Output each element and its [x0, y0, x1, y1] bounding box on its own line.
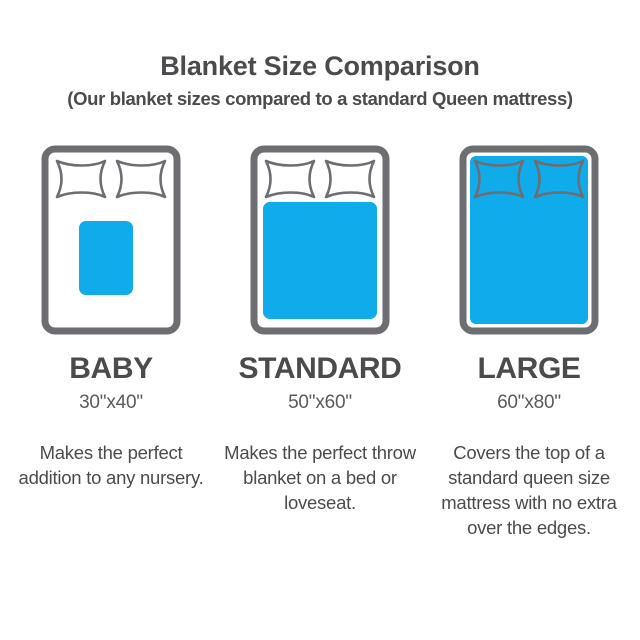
- blanket-overlay-icon: [263, 202, 377, 319]
- size-name-large: LARGE: [477, 354, 580, 384]
- bed-diagram-large: [426, 145, 632, 340]
- mattress-with-pillows-icon: [459, 145, 599, 335]
- size-column-baby: BABY 30"x40" Makes the perfect addition …: [8, 145, 214, 490]
- bed-diagram-baby: [8, 145, 214, 340]
- size-column-standard: STANDARD 50"x60" Makes the perfect throw…: [217, 145, 423, 515]
- heading-block: Blanket Size Comparison (Our blanket siz…: [0, 52, 640, 110]
- size-description-baby: Makes the perfect addition to any nurser…: [11, 440, 211, 490]
- blanket-overlay-icon: [79, 221, 133, 295]
- size-dimensions-large: 60"x80": [497, 393, 561, 412]
- pillow-right-icon: [117, 161, 165, 197]
- pillow-right-icon: [326, 161, 374, 197]
- pillow-left-icon: [266, 161, 314, 197]
- size-description-standard: Makes the perfect throw blanket on a bed…: [220, 440, 420, 515]
- size-dimensions-standard: 50"x60": [288, 393, 352, 412]
- size-name-baby: BABY: [69, 354, 152, 384]
- size-dimensions-baby: 30"x40": [79, 393, 143, 412]
- size-description-large: Covers the top of a standard queen size …: [429, 440, 629, 541]
- bed-diagram-standard: [217, 145, 423, 340]
- blanket-overlay-icon: [470, 156, 588, 324]
- mattress-with-pillows-icon: [41, 145, 181, 335]
- size-name-standard: STANDARD: [239, 354, 402, 384]
- page-title: Blanket Size Comparison: [0, 52, 640, 81]
- blanket-size-comparison-infographic: Blanket Size Comparison (Our blanket siz…: [0, 0, 640, 640]
- page-subtitle: (Our blanket sizes compared to a standar…: [0, 89, 640, 109]
- pillow-left-icon: [57, 161, 105, 197]
- size-column-large: LARGE 60"x80" Covers the top of a standa…: [426, 145, 632, 541]
- mattress-with-pillows-icon: [250, 145, 390, 335]
- size-columns: BABY 30"x40" Makes the perfect addition …: [0, 145, 640, 541]
